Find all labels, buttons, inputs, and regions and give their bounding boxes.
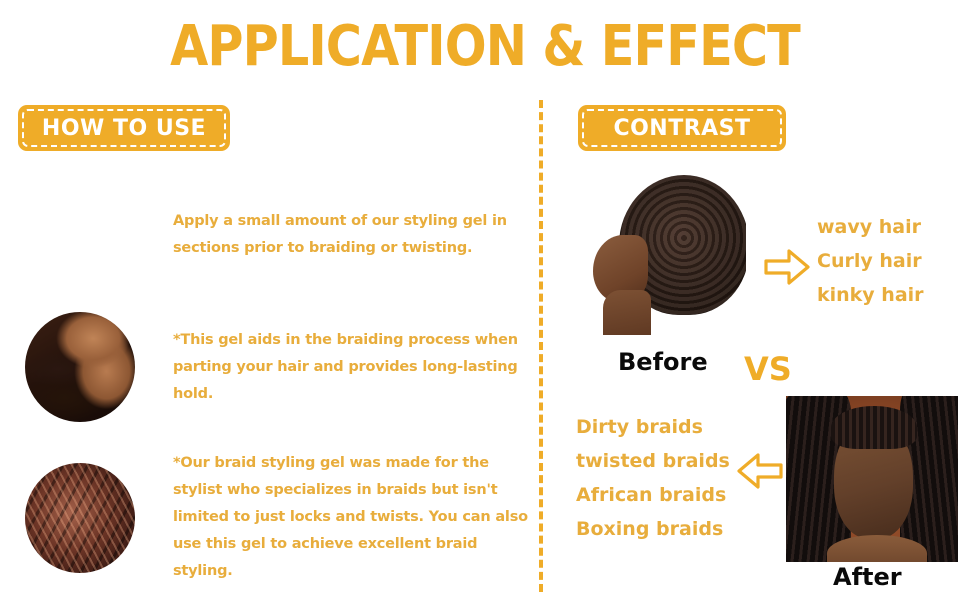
how-to-use-badge: HOW TO USE — [18, 105, 230, 151]
step-description: *This gel aids in the braiding process w… — [173, 327, 525, 408]
list-item: Boxing braids — [576, 512, 730, 546]
step-description: Apply a small amount of our styling gel … — [173, 208, 525, 262]
vertical-divider — [539, 100, 543, 592]
applying-gel-to-hair-photo — [25, 180, 135, 290]
contrast-badge-label: CONTRAST — [582, 109, 782, 147]
shoulder-shape — [827, 535, 927, 562]
cornrow-braids-closeup-photo — [25, 463, 135, 573]
after-label: After — [833, 563, 902, 591]
poster-page: APPLICATION & EFFECT HOW TO USE CONTRAST… — [0, 0, 970, 600]
how-to-use-step: Apply a small amount of our styling gel … — [25, 180, 525, 290]
contrast-badge: CONTRAST — [578, 105, 786, 151]
woman-with-afro-profile-photo — [583, 168, 746, 335]
list-item: wavy hair — [817, 210, 924, 244]
list-item: Dirty braids — [576, 410, 730, 444]
how-to-use-step: *Our braid styling gel was made for the … — [25, 450, 535, 585]
arrow-left-outline-icon — [737, 452, 783, 495]
parting-hair-with-gel-photo — [25, 312, 135, 422]
woman-with-box-braids-portrait-photo — [786, 396, 958, 562]
page-title: APPLICATION & EFFECT — [58, 14, 912, 80]
step-description: *Our braid styling gel was made for the … — [173, 450, 535, 585]
before-label: Before — [618, 348, 708, 376]
braided-crown-shape — [831, 406, 917, 449]
arrow-right-outline-icon — [764, 248, 810, 291]
neck-shape — [603, 290, 652, 335]
how-to-use-step: *This gel aids in the braiding process w… — [25, 312, 525, 422]
how-to-use-badge-label: HOW TO USE — [22, 109, 226, 147]
vs-label: VS — [744, 350, 792, 388]
list-item: kinky hair — [817, 278, 924, 312]
list-item: Curly hair — [817, 244, 924, 278]
braid-types-list: Dirty braids twisted braids African brai… — [576, 410, 730, 546]
hair-types-list: wavy hair Curly hair kinky hair — [817, 210, 924, 312]
list-item: twisted braids — [576, 444, 730, 478]
list-item: African braids — [576, 478, 730, 512]
